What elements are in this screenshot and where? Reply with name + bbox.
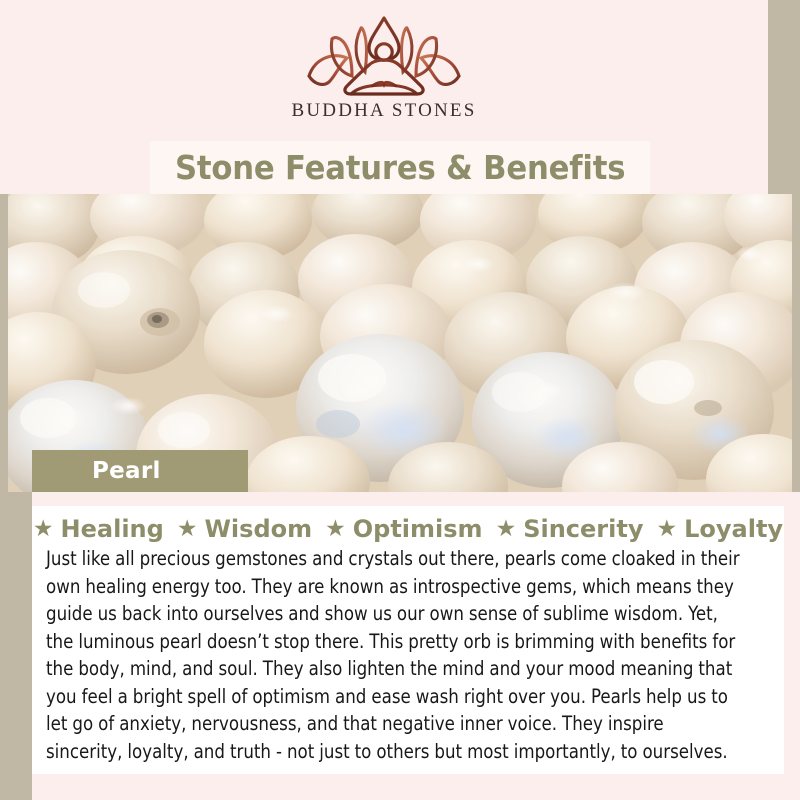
- stone-name-band: Pearl: [32, 450, 248, 492]
- benefit-item-wisdom: ★ Wisdom: [177, 515, 312, 543]
- benefit-item-sincerity: ★ Sincerity: [496, 515, 644, 543]
- benefits-row: ★ Healing ★ Wisdom ★ Optimism ★ Sincerit…: [32, 506, 784, 543]
- benefit-item-loyalty: ★ Loyalty: [656, 515, 783, 543]
- benefit-item-healing: ★ Healing: [33, 515, 164, 543]
- content-panel: ★ Healing ★ Wisdom ★ Optimism ★ Sincerit…: [32, 506, 784, 774]
- benefit-label: Optimism: [353, 515, 483, 543]
- page-title: Stone Features & Benefits: [175, 148, 625, 187]
- lotus-meditation-icon: [299, 14, 469, 98]
- stone-description: Just like all precious gemstones and cry…: [46, 545, 745, 765]
- benefit-label: Loyalty: [684, 515, 783, 543]
- brand-header: BUDDHA STONES: [0, 0, 768, 150]
- benefit-label: Wisdom: [204, 515, 312, 543]
- star-icon: ★: [177, 518, 198, 541]
- star-icon: ★: [325, 518, 346, 541]
- stone-name: Pearl: [92, 458, 161, 484]
- brand-name: BUDDHA STONES: [291, 100, 476, 122]
- star-icon: ★: [496, 518, 517, 541]
- page-title-banner: Stone Features & Benefits: [150, 141, 650, 194]
- benefit-label: Healing: [61, 515, 164, 543]
- benefit-item-optimism: ★ Optimism: [325, 515, 482, 543]
- poster-root: BUDDHA STONES: [0, 0, 800, 800]
- star-icon: ★: [33, 518, 54, 541]
- pearl-photo-graphic: [8, 194, 792, 492]
- star-icon: ★: [656, 518, 677, 541]
- pearl-photo: [8, 194, 792, 492]
- benefit-label: Sincerity: [523, 515, 643, 543]
